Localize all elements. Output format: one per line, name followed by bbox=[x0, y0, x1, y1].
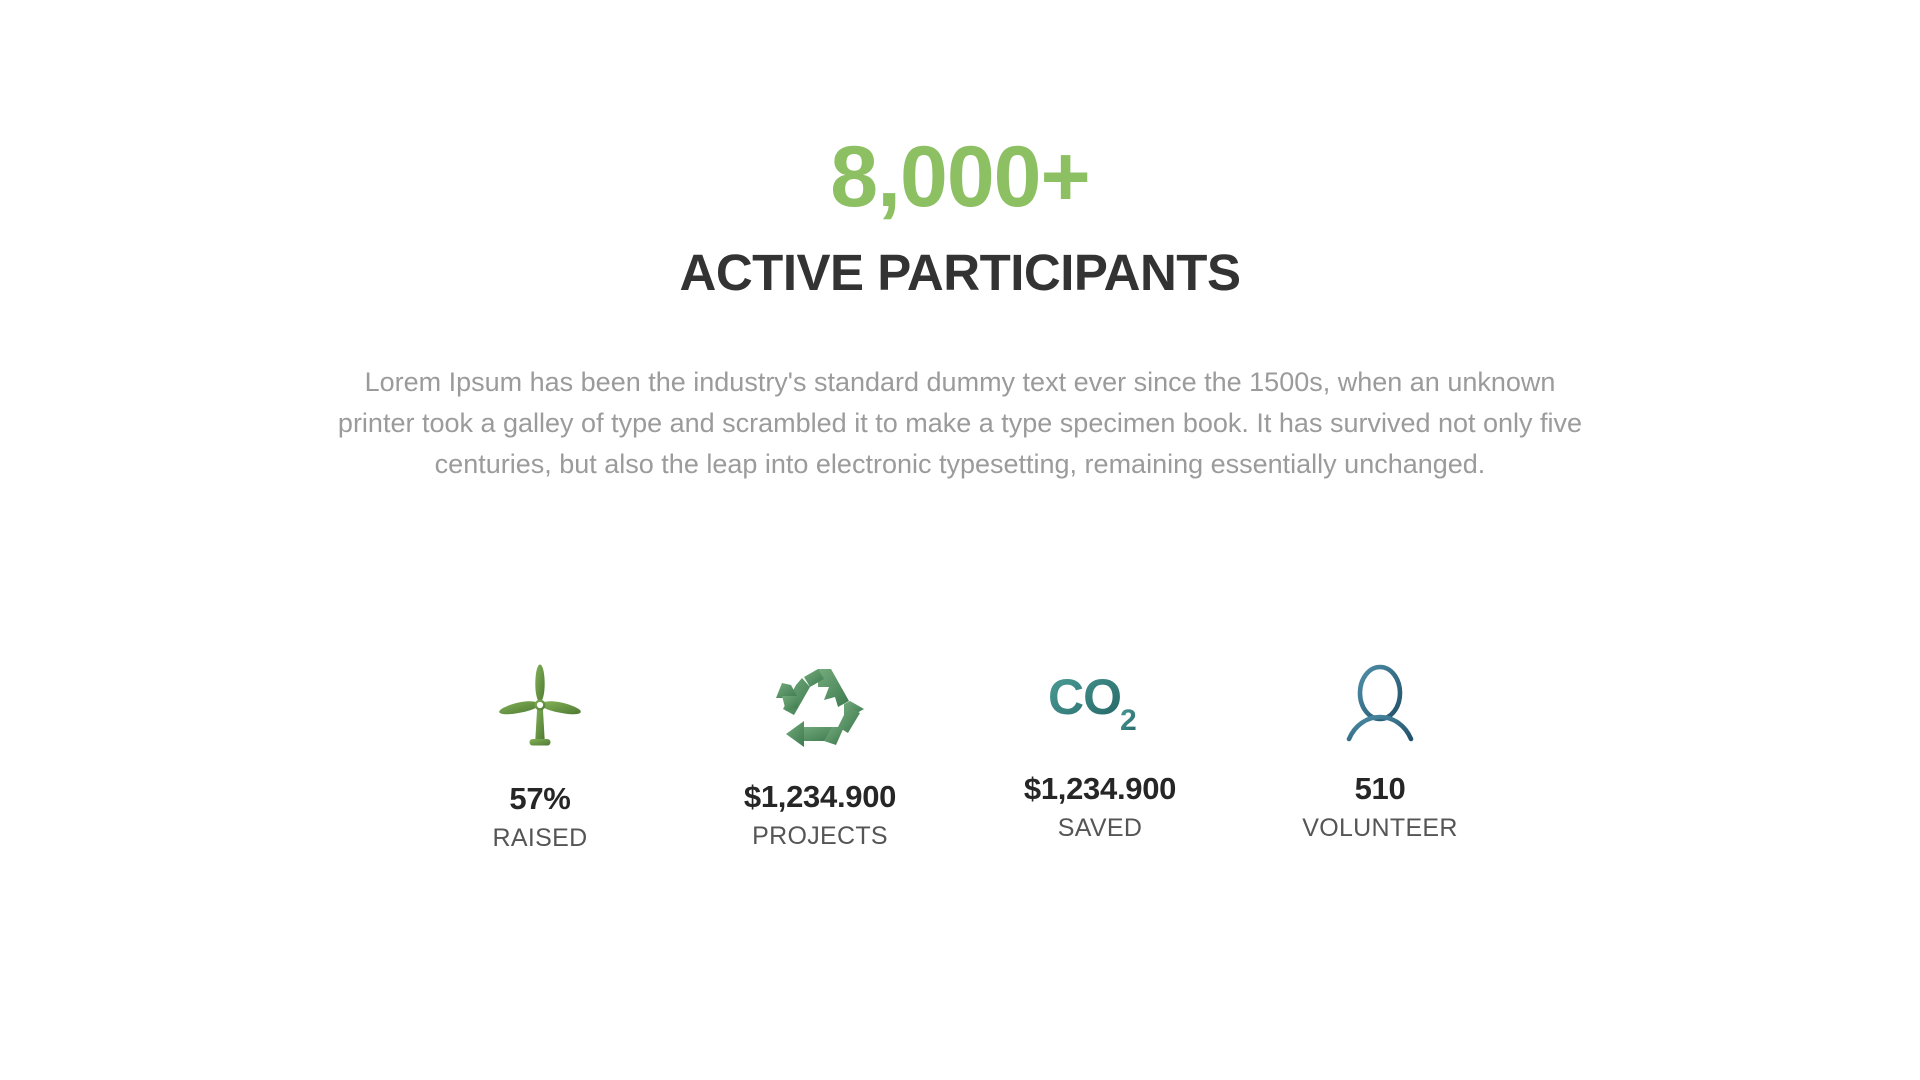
recycle-icon bbox=[774, 661, 866, 757]
stat-value: 510 bbox=[1355, 773, 1406, 804]
co2-subscript-text: 2 bbox=[1120, 704, 1137, 737]
stat-item-raised: 57% RAISED bbox=[415, 661, 665, 851]
stats-row: 57% RAISED bbox=[415, 655, 1505, 851]
wind-turbine-icon bbox=[499, 661, 581, 757]
stat-label: PROJECTS bbox=[752, 824, 888, 849]
stat-label: RAISED bbox=[493, 826, 588, 851]
body-paragraph: Lorem Ipsum has been the industry's stan… bbox=[325, 362, 1595, 485]
stat-item-saved: CO 2 $1,234.900 SAVED bbox=[975, 655, 1225, 841]
stat-item-projects: $1,234.900 PROJECTS bbox=[695, 661, 945, 849]
stat-label: SAVED bbox=[1058, 816, 1142, 841]
person-icon bbox=[1341, 657, 1419, 753]
hero-section: 8,000+ ACTIVE PARTICIPANTS Lorem Ipsum h… bbox=[0, 0, 1920, 485]
co2-main-text: CO bbox=[1048, 669, 1121, 725]
big-number: 8,000+ bbox=[0, 134, 1920, 220]
stat-label: VOLUNTEER bbox=[1302, 816, 1458, 841]
stat-item-volunteer: 510 VOLUNTEER bbox=[1255, 657, 1505, 841]
stat-value: $1,234.900 bbox=[1024, 773, 1176, 804]
page-title: ACTIVE PARTICIPANTS bbox=[0, 246, 1920, 300]
co2-icon: CO 2 bbox=[1046, 655, 1154, 751]
stat-value: 57% bbox=[509, 783, 570, 814]
stat-value: $1,234.900 bbox=[744, 781, 896, 812]
slide-root: 8,000+ ACTIVE PARTICIPANTS Lorem Ipsum h… bbox=[0, 0, 1920, 1080]
